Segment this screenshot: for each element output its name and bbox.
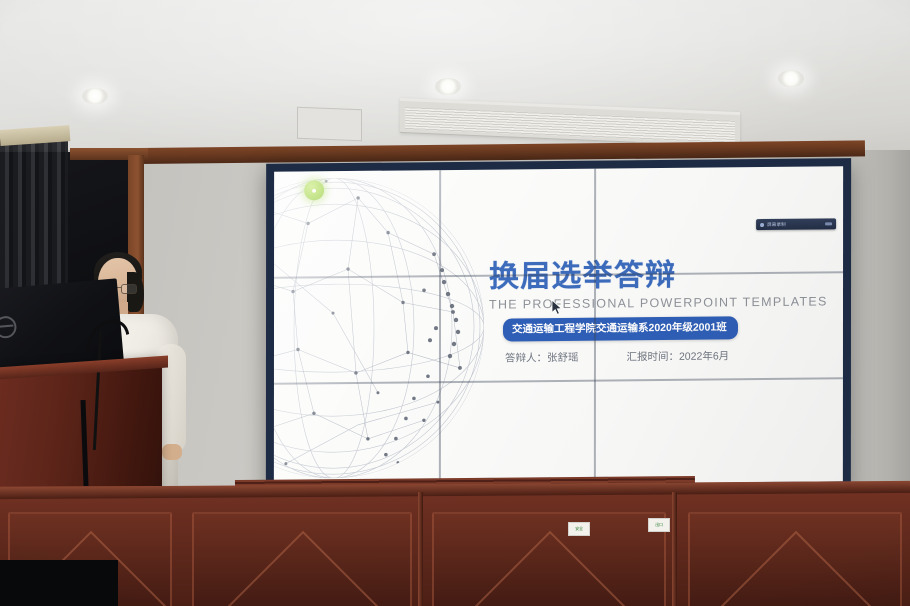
door-panel-3 [688,512,902,606]
status-badge-green[interactable]: ● [304,180,324,200]
mouse-cursor-arrow-icon [552,300,563,316]
wall-label-tag-1: 安全 [568,522,590,536]
conference-room-photo: ● 屏幕录制 换届选举答辩 THE PROFESSIONAL POWERPOIN… [0,0,910,606]
record-icon[interactable] [760,223,764,227]
door-panel-2 [432,512,666,606]
monitor-brand-logo-icon [0,315,17,339]
panel-seam-vertical-1 [439,170,441,485]
wall-label-tag-2: 出口 [648,518,670,532]
slide-title: 换届选举答辩 [489,259,789,293]
video-wall-screen[interactable]: ● 屏幕录制 换届选举答辩 THE PROFESSIONAL POWERPOIN… [274,166,843,486]
toolbar-label: 屏幕录制 [767,221,822,228]
ceiling-downlight-3 [778,70,804,87]
door-panel-diamond-1 [217,531,390,606]
floor-shadow [0,560,118,606]
ceiling-downlight-2 [435,78,461,95]
slide-meta: 答辩人：张舒瑶 汇报时间：2022年6月 [505,347,789,365]
ceiling-access-panel [297,107,362,141]
panel-seam-vertical-2 [594,169,596,484]
video-wall-bezel: ● 屏幕录制 换届选举答辩 THE PROFESSIONAL POWERPOIN… [266,158,851,495]
globe-network-graphic [274,166,488,486]
door-divider-1 [418,492,423,606]
minimize-icon[interactable] [825,222,832,225]
ceiling-downlight-1 [82,88,108,104]
door-panel-diamond-2 [464,531,637,606]
slide-department-band: 交通运输工程学院交通运输系2020年级2001班 [503,316,738,341]
status-badge-glyph: ● [311,185,316,195]
slide-presenter: 答辩人：张舒瑶 [505,349,579,365]
slide-subtitle: THE PROFESSIONAL POWERPOINT TEMPLATES [489,294,789,311]
slide-date: 汇报时间：2022年6月 [626,348,729,364]
door-panel-diamond-3 [710,531,883,606]
door-divider-2 [672,492,677,606]
floating-recorder-toolbar[interactable]: 屏幕录制 [756,218,836,230]
presenter-hand [162,444,182,460]
door-panel-1 [192,512,412,606]
glasses-lens-right [121,284,137,294]
